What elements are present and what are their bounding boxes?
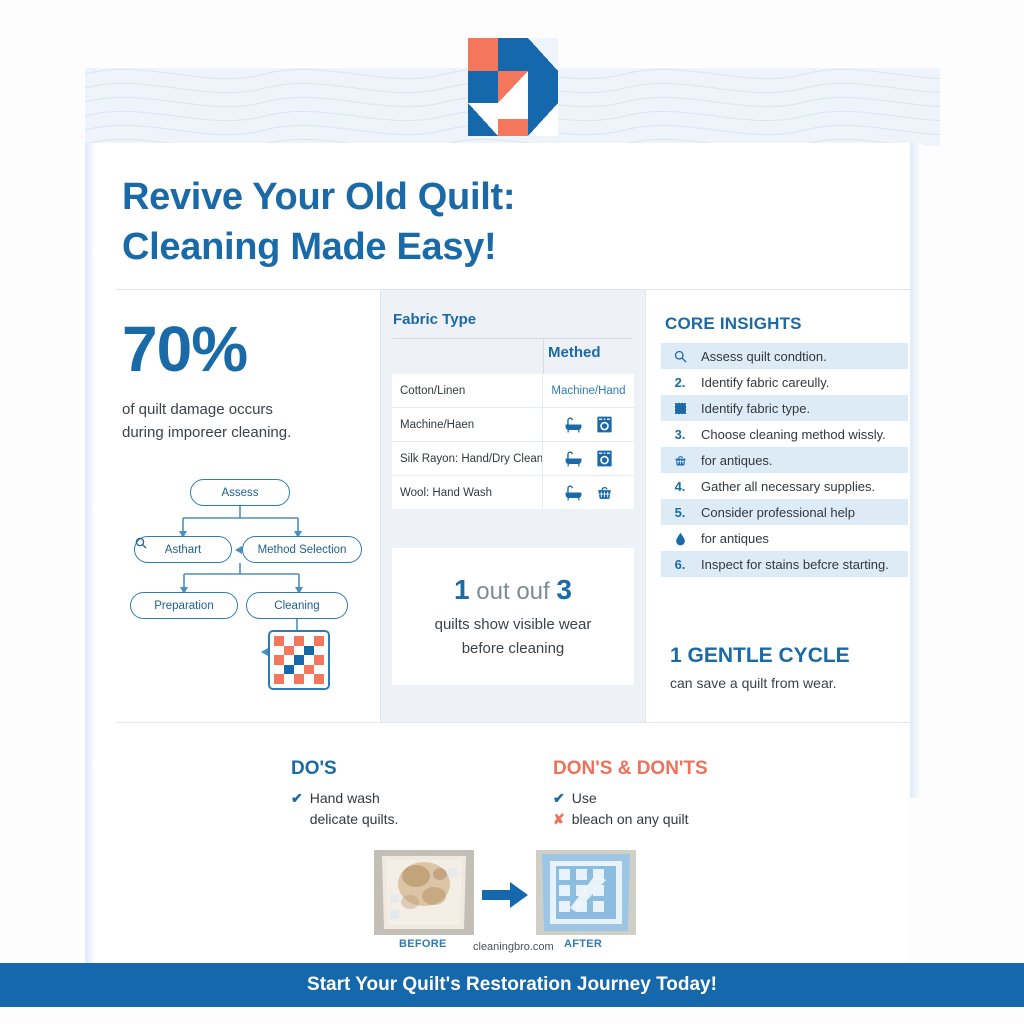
insight-text: Gather all necessary supplies. bbox=[701, 479, 875, 494]
flow-node-preparation[interactable]: Preparation bbox=[130, 592, 238, 619]
clean-quilt-photo-icon bbox=[536, 850, 636, 935]
quilt-square bbox=[304, 665, 314, 675]
logo-cell-5 bbox=[498, 71, 528, 104]
laundry-basket-icon bbox=[673, 453, 688, 468]
donts-list: ✔ Use ✘ bleach on any quilt bbox=[553, 788, 793, 830]
divider-bottom bbox=[115, 722, 910, 723]
insight-text: Identify fabric careully. bbox=[701, 375, 829, 390]
flow-node-method-selection[interactable]: Method Selection bbox=[242, 536, 362, 563]
flow-node-cleaning[interactable]: Cleaning bbox=[246, 592, 348, 619]
insight-row[interactable]: 5.Consider professional help bbox=[661, 499, 908, 525]
insight-number: 3. bbox=[669, 427, 691, 442]
sheet-left-shadow bbox=[85, 143, 95, 963]
quilt-square bbox=[304, 674, 314, 684]
ratio-stat-line: 1 out ouf 3 bbox=[454, 573, 572, 609]
insight-text: Assess quilt condtion. bbox=[701, 349, 827, 364]
logo-cell-1 bbox=[468, 38, 498, 71]
dos-item-line1: Hand wash bbox=[310, 790, 380, 806]
primary-stat-value: 70% bbox=[122, 312, 247, 386]
insight-row[interactable]: for antiques. bbox=[661, 447, 908, 473]
insight-row[interactable]: for antiques bbox=[661, 525, 908, 551]
gentle-cycle-highlight: 1 GENTLE CYCLE bbox=[670, 644, 850, 668]
sheet-right-shadow bbox=[910, 143, 922, 798]
table-cell-fabric: Machine/Haen bbox=[392, 419, 542, 431]
arrow-right-icon bbox=[482, 882, 528, 908]
insight-text: Choose cleaning method wissly. bbox=[701, 427, 886, 442]
donts-title: DON'S & DON'TS bbox=[553, 758, 708, 780]
fabric-swatch-icon bbox=[673, 401, 688, 416]
table-row: Silk Rayon: Hand/Dry Clean bbox=[392, 442, 634, 476]
insight-icon bbox=[669, 531, 691, 546]
flow-node-preparation-label: Preparation bbox=[154, 600, 213, 612]
footer-cta-bar: Start Your Quilt's Restoration Journey T… bbox=[0, 963, 1024, 1007]
quilt-square bbox=[294, 655, 304, 665]
before-label: BEFORE bbox=[399, 938, 447, 950]
logo-cell-3 bbox=[528, 38, 558, 71]
insight-icon bbox=[669, 453, 691, 468]
washing-machine-icon bbox=[595, 449, 614, 468]
bathtub-icon bbox=[564, 415, 583, 434]
logo-cell-9 bbox=[528, 103, 558, 136]
quilt-square bbox=[304, 646, 314, 656]
page-title: Revive Your Old Quilt: Cleaning Made Eas… bbox=[122, 172, 762, 272]
quilt-square bbox=[304, 655, 314, 665]
primary-stat-desc-line2: during imporeer cleaning. bbox=[122, 421, 362, 444]
logo-cell-2 bbox=[498, 38, 528, 71]
ratio-sub-line2: before cleaning bbox=[435, 637, 592, 661]
column-divider-left bbox=[380, 290, 381, 722]
insight-row[interactable]: 2.Identify fabric careully. bbox=[661, 369, 908, 395]
quilt-square bbox=[284, 674, 294, 684]
quilt-square bbox=[284, 646, 294, 656]
ratio-num1: 1 bbox=[454, 574, 470, 605]
insight-text: Consider professional help bbox=[701, 505, 855, 520]
table-cell-fabric: Silk Rayon: Hand/Dry Clean bbox=[392, 453, 542, 465]
primary-stat-desc-line1: of quilt damage occurs bbox=[122, 398, 362, 421]
flow-node-asthart-label: Asthart bbox=[165, 544, 201, 556]
table-cell-method: Machine/Hand bbox=[542, 374, 634, 407]
search-icon bbox=[673, 349, 688, 364]
quilt-square bbox=[294, 665, 304, 675]
table-row: Machine/Haen bbox=[392, 408, 634, 442]
fabric-table-title: Fabric Type bbox=[393, 311, 476, 328]
dos-list-item: ✔ Hand wash delicate quilts. bbox=[291, 788, 531, 830]
donts-item-text-2: bleach on any quilt bbox=[572, 809, 689, 830]
quilt-square bbox=[304, 636, 314, 646]
washing-machine-icon bbox=[595, 415, 614, 434]
fabric-table: Cotton/LinenMachine/HandMachine/HaenSilk… bbox=[392, 374, 634, 509]
insight-number: 4. bbox=[669, 479, 691, 494]
primary-stat-description: of quilt damage occurs during imporeer c… bbox=[122, 398, 362, 444]
donts-list-item: ✘ bleach on any quilt bbox=[553, 809, 793, 830]
gentle-cycle-subtext: can save a quilt from wear. bbox=[670, 675, 837, 691]
insight-number: 6. bbox=[669, 557, 691, 572]
flow-node-cleaning-label: Cleaning bbox=[274, 600, 319, 612]
table-cell-method bbox=[542, 442, 634, 475]
watermark: cleaningbro.com bbox=[473, 941, 554, 953]
insight-row[interactable]: 4.Gather all necessary supplies. bbox=[661, 473, 908, 499]
logo-cell-4 bbox=[468, 71, 498, 104]
search-icon bbox=[135, 537, 147, 549]
fabric-table-header-divider bbox=[543, 338, 544, 376]
table-cell-fabric: Wool: Hand Wash bbox=[392, 487, 542, 499]
insight-row[interactable]: Identify fabric type. bbox=[661, 395, 908, 421]
donts-item-text-1: Use bbox=[572, 788, 597, 809]
laundry-basket-icon bbox=[595, 483, 614, 502]
insight-row[interactable]: 3.Choose cleaning method wissly. bbox=[661, 421, 908, 447]
dos-item-line2: delicate quilts. bbox=[310, 811, 399, 827]
core-insights-title: CORE INSIGHTS bbox=[665, 314, 802, 334]
quilt-square bbox=[284, 636, 294, 646]
insight-text: for antiques bbox=[701, 531, 769, 546]
logo-cell-7 bbox=[468, 103, 498, 136]
fabric-table-method-header: Methed bbox=[548, 344, 601, 361]
quilt-square bbox=[314, 636, 324, 646]
flow-node-assess-label: Assess bbox=[221, 487, 258, 499]
process-flowchart: Assess Asthart Method Selection Preparat… bbox=[122, 470, 372, 685]
flow-node-assess[interactable]: Assess bbox=[190, 479, 290, 506]
page-title-line2: Cleaning Made Easy! bbox=[122, 222, 762, 272]
table-cell-method bbox=[542, 476, 634, 509]
after-label: AFTER bbox=[564, 938, 602, 950]
table-row: Wool: Hand Wash bbox=[392, 476, 634, 509]
quilt-block-logo bbox=[468, 38, 558, 136]
insight-number: 5. bbox=[669, 505, 691, 520]
ratio-mid: out ouf bbox=[476, 578, 549, 605]
fabric-table-top-rule bbox=[393, 338, 633, 339]
insight-row[interactable]: Assess quilt condtion. bbox=[661, 343, 908, 369]
quilt-pattern-icon bbox=[268, 630, 330, 690]
quilt-square bbox=[274, 665, 284, 675]
column-divider-right bbox=[645, 290, 646, 722]
footer-cta-text: Start Your Quilt's Restoration Journey T… bbox=[307, 974, 717, 996]
check-icon: ✔ bbox=[291, 788, 303, 809]
quilt-square bbox=[314, 655, 324, 665]
infographic-canvas: Revive Your Old Quilt: Cleaning Made Eas… bbox=[0, 0, 1024, 1024]
table-cell-method-text: Machine/Hand bbox=[551, 385, 625, 397]
stained-quilt-photo-icon bbox=[374, 850, 474, 935]
page-title-line1: Revive Your Old Quilt: bbox=[122, 172, 762, 222]
bathtub-icon bbox=[564, 449, 583, 468]
ratio-sub-line1: quilts show visible wear bbox=[435, 613, 592, 637]
water-drop-icon bbox=[673, 531, 688, 546]
logo-cell-6 bbox=[528, 71, 558, 104]
donts-list-item: ✔ Use bbox=[553, 788, 793, 809]
insight-text: Inspect for stains befcre starting. bbox=[701, 557, 889, 572]
quilt-square bbox=[294, 674, 304, 684]
flow-node-method-label: Method Selection bbox=[258, 544, 347, 556]
before-image bbox=[374, 850, 474, 935]
insight-number: 2. bbox=[669, 375, 691, 390]
quilt-square bbox=[274, 655, 284, 665]
insight-icon bbox=[669, 401, 691, 416]
dos-title: DO'S bbox=[291, 758, 337, 780]
table-cell-method bbox=[542, 408, 634, 441]
table-row: Cotton/LinenMachine/Hand bbox=[392, 374, 634, 408]
insight-icon bbox=[669, 349, 691, 364]
quilt-square bbox=[294, 646, 304, 656]
flow-node-asthart[interactable]: Asthart bbox=[134, 536, 232, 563]
ratio-stat-description: quilts show visible wear before cleaning bbox=[435, 613, 592, 661]
logo-cell-8 bbox=[498, 103, 528, 136]
cross-icon: ✘ bbox=[553, 809, 565, 830]
quilt-square bbox=[274, 674, 284, 684]
core-insights-list: Assess quilt condtion.2.Identify fabric … bbox=[661, 343, 908, 577]
quilt-square bbox=[274, 646, 284, 656]
ratio-stat-card: 1 out ouf 3 quilts show visible wear bef… bbox=[392, 548, 634, 685]
insight-text: for antiques. bbox=[701, 453, 773, 468]
ratio-num2: 3 bbox=[556, 574, 572, 605]
table-cell-fabric: Cotton/Linen bbox=[392, 385, 542, 397]
after-image bbox=[536, 850, 636, 935]
quilt-square bbox=[314, 674, 324, 684]
quilt-square bbox=[314, 665, 324, 675]
check-icon: ✔ bbox=[553, 788, 565, 809]
quilt-square bbox=[294, 636, 304, 646]
insight-row[interactable]: 6.Inspect for stains befcre starting. bbox=[661, 551, 908, 577]
quilt-square bbox=[284, 665, 294, 675]
quilt-square bbox=[284, 655, 294, 665]
insight-text: Identify fabric type. bbox=[701, 401, 810, 416]
quilt-square bbox=[274, 636, 284, 646]
bathtub-icon bbox=[564, 483, 583, 502]
dos-list: ✔ Hand wash delicate quilts. bbox=[291, 788, 531, 830]
quilt-square bbox=[314, 646, 324, 656]
dos-item-text: Hand wash delicate quilts. bbox=[310, 788, 399, 830]
